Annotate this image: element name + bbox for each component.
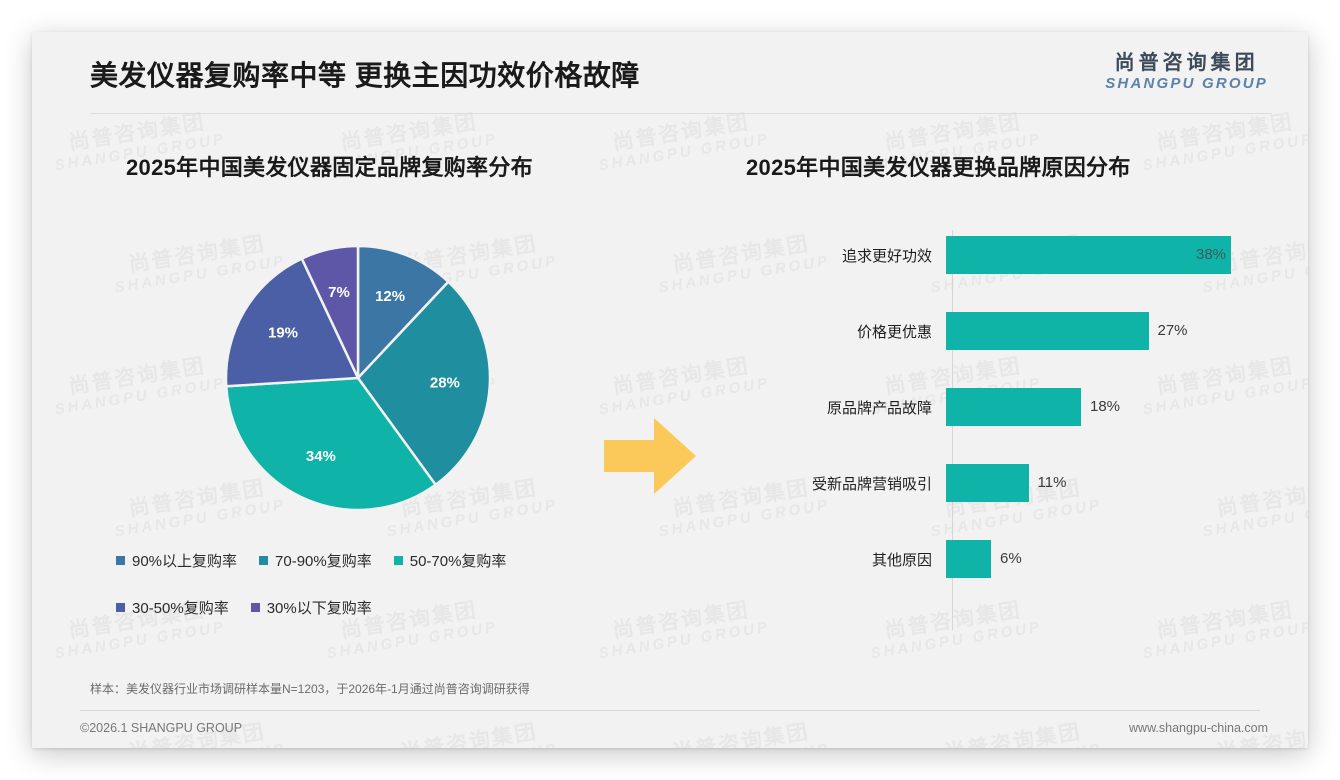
bar-value-label: 38% <box>1196 236 1226 274</box>
bar-value-label: 27% <box>1158 312 1188 350</box>
bar-fill[interactable] <box>946 464 1029 502</box>
brand-logo: 尚普咨询集团 SHANGPU GROUP <box>1105 52 1268 92</box>
bar-category-label: 原品牌产品故障 <box>732 397 946 418</box>
pie-legend-label: 30%以下复购率 <box>267 597 372 618</box>
bar-value-label: 6% <box>1000 540 1022 578</box>
bar-track: 18% <box>946 388 1272 426</box>
pie-slice-label: 34% <box>306 448 336 465</box>
bar-row[interactable]: 价格更优惠27% <box>732 312 1272 350</box>
slide-card: 尚普咨询集团SHANGPU GROUP尚普咨询集团SHANGPU GROUP尚普… <box>32 32 1308 748</box>
bar-track: 6% <box>946 540 1272 578</box>
legend-swatch-icon <box>116 603 125 612</box>
pie-legend-item[interactable]: 70-90%复购率 <box>259 550 372 571</box>
pie-legend-label: 90%以上复购率 <box>132 550 237 571</box>
pie-chart-svg: 12%28%34%19%7% <box>208 228 508 528</box>
bar-category-label: 价格更优惠 <box>732 321 946 342</box>
pie-slice-label: 7% <box>328 284 350 301</box>
arrow-right-icon <box>598 414 702 498</box>
pie-slice-label: 28% <box>430 374 460 391</box>
pie-legend-row-1: 90%以上复购率70-90%复购率50-70%复购率 <box>116 550 676 571</box>
copyright-text: ©2026.1 SHANGPU GROUP <box>80 721 242 735</box>
bar-row[interactable]: 受新品牌营销吸引11% <box>732 464 1272 502</box>
pie-legend-item[interactable]: 50-70%复购率 <box>394 550 507 571</box>
legend-swatch-icon <box>394 556 403 565</box>
pie-legend-row-2: 30-50%复购率30%以下复购率 <box>116 597 676 618</box>
bar-chart-area: 追求更好功效38%价格更优惠27%原品牌产品故障18%受新品牌营销吸引11%其他… <box>732 222 1272 642</box>
bar-fill[interactable] <box>946 312 1149 350</box>
page-title: 美发仪器复购率中等 更换主因功效价格故障 <box>90 54 640 94</box>
bar-category-label: 受新品牌营销吸引 <box>732 473 946 494</box>
bar-row[interactable]: 追求更好功效38% <box>732 236 1272 274</box>
legend-swatch-icon <box>251 603 260 612</box>
pie-legend: 90%以上复购率70-90%复购率50-70%复购率 30-50%复购率30%以… <box>116 550 676 644</box>
brand-name-en: SHANGPU GROUP <box>1105 75 1268 92</box>
bar-fill[interactable] <box>946 388 1081 426</box>
bar-value-label: 11% <box>1038 464 1067 502</box>
bar-track: 27% <box>946 312 1272 350</box>
pie-legend-label: 30-50%复购率 <box>132 597 229 618</box>
pie-slice-label: 19% <box>268 325 298 342</box>
pie-legend-item[interactable]: 30-50%复购率 <box>116 597 229 618</box>
pie-chart-title: 2025年中国美发仪器固定品牌复购率分布 <box>126 150 690 182</box>
arrow-right-glyph <box>598 414 702 498</box>
bar-row[interactable]: 原品牌产品故障18% <box>732 388 1272 426</box>
pie-legend-item[interactable]: 30%以下复购率 <box>251 597 372 618</box>
bar-chart-panel: 2025年中国美发仪器更换品牌原因分布 追求更好功效38%价格更优惠27%原品牌… <box>722 150 1282 670</box>
sample-footnote: 样本：美发仪器行业市场调研样本量N=1203，于2026年-1月通过尚普咨询调研… <box>90 680 1090 697</box>
bar-fill[interactable] <box>946 236 1231 274</box>
legend-swatch-icon <box>116 556 125 565</box>
pie-legend-label: 50-70%复购率 <box>410 550 507 571</box>
pie-slice-label: 12% <box>375 288 405 305</box>
bar-value-label: 18% <box>1090 388 1120 426</box>
bar-fill[interactable] <box>946 540 991 578</box>
bar-category-label: 追求更好功效 <box>732 245 946 266</box>
pie-legend-label: 70-90%复购率 <box>275 550 372 571</box>
bar-chart-title: 2025年中国美发仪器更换品牌原因分布 <box>746 150 1282 182</box>
bar-row[interactable]: 其他原因6% <box>732 540 1272 578</box>
bar-track: 11% <box>946 464 1272 502</box>
bar-track: 38% <box>946 236 1272 274</box>
bar-category-label: 其他原因 <box>732 549 946 570</box>
brand-name-cn: 尚普咨询集团 <box>1105 52 1268 75</box>
legend-swatch-icon <box>259 556 268 565</box>
pie-legend-item[interactable]: 90%以上复购率 <box>116 550 237 571</box>
header-divider <box>90 113 1272 114</box>
pie-chart-panel: 2025年中国美发仪器固定品牌复购率分布 12%28%34%19%7% 90%以… <box>90 150 690 670</box>
website-link[interactable]: www.shangpu-china.com <box>1129 721 1268 735</box>
slide-footer: ©2026.1 SHANGPU GROUP www.shangpu-china.… <box>32 710 1308 748</box>
slide-header: 美发仪器复购率中等 更换主因功效价格故障 尚普咨询集团 SHANGPU GROU… <box>32 32 1308 113</box>
